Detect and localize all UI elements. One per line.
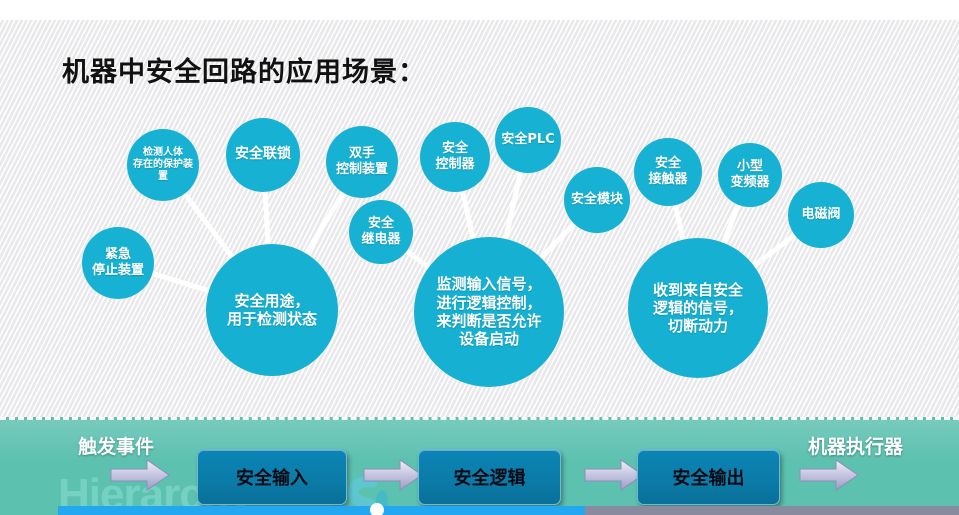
bubble-label: 电磁阀 <box>795 207 846 223</box>
bubble-hub-logic[interactable]: 监测输入信号， 进行逻辑控制， 来判断是否允许 设备启动 <box>414 237 564 387</box>
flow-box-label: 安全输入 <box>236 464 308 490</box>
trigger-event-label: 触发事件 <box>78 432 154 459</box>
bubble-label: 安全 继电器 <box>355 216 406 248</box>
machine-actuator-label: 机器执行器 <box>808 432 903 459</box>
flow-box-safety-output[interactable]: 安全输出 <box>637 449 780 505</box>
flow-arrow-icon <box>798 458 860 492</box>
bubble-label: 监测输入信号， 进行逻辑控制， 来判断是否允许 设备启动 <box>430 275 547 348</box>
flow-box-safety-logic[interactable]: 安全逻辑 <box>418 449 561 505</box>
bubble-label: 小型 变频器 <box>724 159 775 191</box>
bubble-label: 双手 控制装置 <box>330 146 394 178</box>
bubble-interlock[interactable]: 安全联锁 <box>226 118 300 192</box>
bubble-safety-relay[interactable]: 安全 继电器 <box>349 200 413 264</box>
bubble-mini-inverter[interactable]: 小型 变频器 <box>718 143 782 207</box>
bubble-safety-plc[interactable]: 安全PLC <box>495 107 561 173</box>
slide-canvas: 机器中安全回路的应用场景： 安全用途， 用于检测状态监测输入信号， 进行逻辑控制… <box>0 0 959 515</box>
bottom-blue-strip <box>58 506 588 515</box>
flow-arrow-icon <box>362 458 424 492</box>
bubble-hub-output[interactable]: 收到来自安全 逻辑的信号， 切断动力 <box>628 238 768 378</box>
bubble-safety-contactor[interactable]: 安全 接触器 <box>634 138 702 206</box>
page-title: 机器中安全回路的应用场景： <box>62 50 426 89</box>
bubble-label: 安全 控制器 <box>429 141 480 173</box>
bubble-protective-device[interactable]: 检测人体 存在的保护装置 <box>127 129 199 201</box>
bubble-label: 紧急 停止装置 <box>86 247 150 279</box>
flow-arrow-icon <box>109 458 171 492</box>
bubble-solenoid-valve[interactable]: 电磁阀 <box>788 182 854 248</box>
flow-box-label: 安全输出 <box>673 464 745 490</box>
bubble-label: 安全 接触器 <box>642 156 693 188</box>
bubble-label: 安全联锁 <box>229 146 297 163</box>
bubble-safety-module[interactable]: 安全模块 <box>564 167 630 233</box>
flow-box-safety-input[interactable]: 安全输入 <box>197 449 347 505</box>
bubble-label: 安全用途， 用于检测状态 <box>221 292 323 329</box>
bubble-safety-controller[interactable]: 安全 控制器 <box>420 122 490 192</box>
bottom-grey-strip <box>585 506 959 515</box>
bubble-emergency-stop[interactable]: 紧急 停止装置 <box>82 227 154 299</box>
bubble-label: 安全PLC <box>495 132 560 148</box>
flow-box-label: 安全逻辑 <box>454 464 526 490</box>
flow-arrow-icon <box>583 458 645 492</box>
bubble-label: 安全模块 <box>565 192 629 208</box>
bubble-hub-input[interactable]: 安全用途， 用于检测状态 <box>206 244 338 376</box>
bottom-white-dot <box>370 503 384 515</box>
bubble-two-hand-control[interactable]: 双手 控制装置 <box>326 126 398 198</box>
bubble-label: 收到来自安全 逻辑的信号， 切断动力 <box>647 281 749 336</box>
bubble-label: 检测人体 存在的保护装置 <box>127 147 199 184</box>
